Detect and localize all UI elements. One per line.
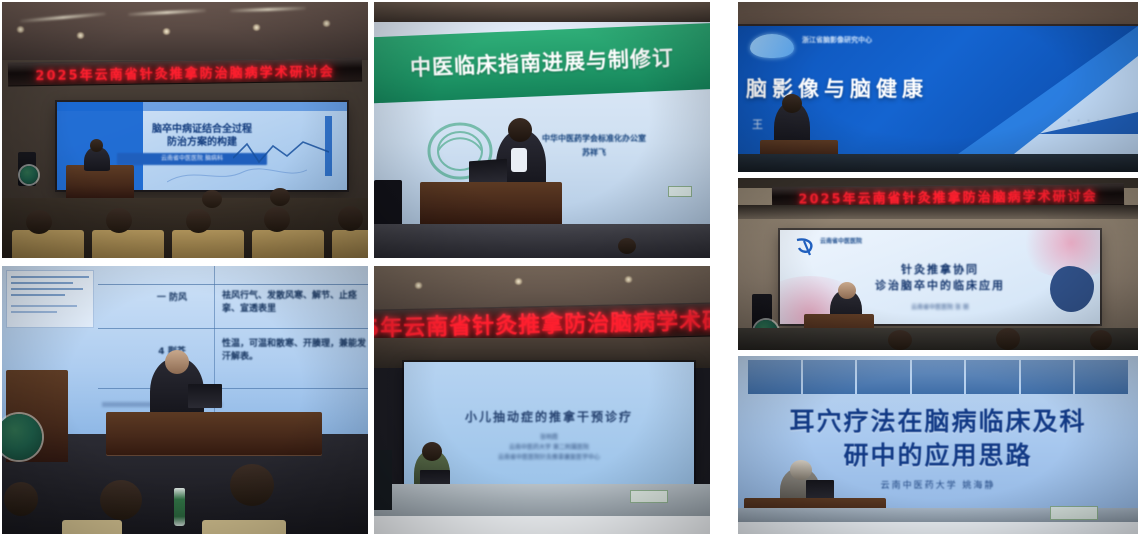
stage-speaker-box	[374, 450, 392, 510]
podium-desk	[420, 182, 562, 226]
audience-head	[996, 328, 1020, 350]
slide-photo-strip	[748, 360, 1128, 394]
brain-icon	[750, 34, 794, 58]
speaker-head	[782, 94, 802, 113]
panel-2-photo: 中医临床指南进展与制修订 中华中医药学会标准化办公室 苏祥飞	[374, 2, 710, 258]
water-bottle	[174, 488, 185, 526]
slide-title-line1: 脑卒中病证结合全过程	[57, 124, 347, 137]
presenter-desk	[106, 412, 322, 456]
audience-head	[888, 330, 912, 350]
audience-head	[26, 210, 52, 234]
ceiling-downlight	[514, 278, 523, 285]
panel-5-photo: 2025年云南省针灸推拿防治脑病学术研讨会 小儿抽动症的推拿干预诊疗 张明霞 云…	[374, 266, 710, 534]
sy-monogram-icon	[794, 236, 816, 258]
slide-title-line2: 诊治脑卒中的临床应用	[780, 279, 1100, 293]
led-banner: 2025年云南省针灸推拿防治脑病学术研讨会	[8, 58, 362, 87]
audience-head	[100, 480, 142, 520]
audience-head	[186, 209, 211, 233]
seat	[92, 230, 164, 258]
seat	[202, 520, 286, 534]
foreground-shadow	[374, 224, 710, 258]
slide-byline-org1: 云南中医药大学 第二附属医院	[404, 444, 694, 452]
slide-title-line1: 耳穴疗法在脑病临床及科	[738, 406, 1138, 437]
collage-panel-right-top[interactable]: 浙江省脑影像研究中心 脑影像与脑健康 王 鹤 · · · ·	[738, 2, 1138, 172]
floor	[738, 522, 1138, 534]
speaker-head	[508, 118, 532, 142]
audience-foreground	[738, 328, 1138, 350]
collage-panel-right-bottom[interactable]: 耳穴疗法在脑病临床及科 研中的应用思路 云南中医药大学 姚海静	[738, 356, 1138, 534]
collage-panel-bottom-middle[interactable]: 2025年云南省针灸推拿防治脑病学术研讨会 小儿抽动症的推拿干预诊疗 张明霞 云…	[374, 266, 710, 534]
seat	[172, 230, 244, 258]
audience-head	[202, 190, 222, 208]
audience-head	[264, 207, 290, 232]
panel-3-photo: 浙江省脑影像研究中心 脑影像与脑健康 王 鹤 · · · ·	[738, 2, 1138, 172]
slide-byline: 云南省中医医院 张 丽	[780, 304, 1100, 312]
audience-head	[270, 188, 290, 206]
slide-byline-name: 张明霞	[404, 434, 694, 442]
slide-org-name: 云南省中医医院	[820, 238, 970, 246]
audience-head	[230, 464, 274, 506]
ceiling-downlight	[76, 32, 85, 39]
ceiling-downlight	[322, 20, 331, 27]
audience-head	[106, 208, 132, 233]
slide-thumbnail	[6, 270, 94, 328]
laptop	[806, 480, 834, 500]
audience-head	[618, 238, 636, 254]
wall-shadow	[738, 205, 1138, 219]
slide-footer-text: · · · ·	[1040, 118, 1130, 126]
ceiling-downlight	[624, 276, 633, 283]
table-row-desc: 性温，可温和散寒、开腠理，兼能发汗解表。	[222, 338, 368, 364]
exit-sign-icon	[630, 490, 668, 503]
speaker-head	[90, 139, 103, 152]
panel-7-photo: 耳穴疗法在脑病临床及科 研中的应用思路 云南中医药大学 姚海静	[738, 356, 1138, 534]
seat	[12, 230, 84, 258]
slide-wave-icon	[167, 164, 307, 186]
speaker-head	[165, 350, 189, 374]
speaker-head	[790, 460, 812, 480]
audience-head	[338, 206, 363, 231]
led-banner-text: 2025年云南省针灸推拿防治脑病学术研讨会	[798, 185, 1097, 207]
collage-panel-top-middle[interactable]: 中医临床指南进展与制修订 中华中医药学会标准化办公室 苏祥飞	[374, 2, 710, 258]
collage-panel-top-left[interactable]: 2025年云南省针灸推拿防治脑病学术研讨会 脑卒中病证结合全过程 防治方案的构建…	[2, 2, 368, 258]
panel-1-photo: 2025年云南省针灸推拿防治脑病学术研讨会 脑卒中病证结合全过程 防治方案的构建…	[2, 2, 368, 258]
led-banner-text: 2025年云南省针灸推拿防治脑病学术研讨会	[35, 60, 334, 83]
slide-title-line1: 针灸推拿协同	[780, 263, 1100, 277]
table-row-term: 一 防风	[126, 290, 218, 303]
exit-sign-icon	[668, 186, 692, 197]
seat	[332, 230, 368, 258]
floor	[374, 516, 710, 534]
photo-collage: 2025年云南省针灸推拿防治脑病学术研讨会 脑卒中病证结合全过程 防治方案的构建…	[0, 0, 1140, 536]
seat	[252, 230, 324, 258]
ceiling-downlight	[16, 26, 25, 33]
seat	[62, 520, 122, 534]
slide-org-name: 浙江省脑影像研究中心	[802, 36, 982, 45]
collage-panel-bottom-left[interactable]: 一 防风 祛风行气、发散风寒、解节、止痉挛、宣透表里 4 荆芥 性温，可温和散寒…	[2, 266, 368, 534]
collage-panel-right-middle[interactable]: 2025年云南省针灸推拿防治脑病学术研讨会 云南省中医医院 针灸推拿协同 诊治脑…	[738, 178, 1138, 350]
ceiling-downlight	[414, 282, 423, 289]
speaker-shirt	[511, 148, 527, 172]
panel-6-photo: 2025年云南省针灸推拿防治脑病学术研讨会 云南省中医医院 针灸推拿协同 诊治脑…	[738, 178, 1138, 350]
audience-head	[1090, 330, 1112, 350]
slide-table: 一 防风 祛风行气、发散风寒、解节、止痉挛、宣透表里 4 荆芥 性温，可温和散寒…	[98, 266, 368, 434]
foreground-band	[738, 154, 1138, 172]
speaker-head	[838, 282, 856, 299]
projection-screen: 云南省中医医院 针灸推拿协同 诊治脑卒中的临床应用 云南省中医医院 张 丽	[780, 230, 1100, 324]
upper-wall	[374, 2, 710, 22]
speaker-head	[422, 442, 442, 461]
podium-emblem-icon	[20, 166, 38, 184]
panel-4-photo: 一 防风 祛风行气、发散风寒、解节、止痉挛、宣透表里 4 荆芥 性温，可温和散寒…	[2, 266, 368, 534]
ceiling-downlight	[162, 28, 171, 35]
slide-presenter: 王 鹤	[752, 118, 882, 133]
ceiling-downlight	[252, 24, 261, 31]
slide-top-bar	[57, 102, 347, 111]
laptop	[188, 384, 222, 408]
table-row-desc: 祛风行气、发散风寒、解节、止痉挛、宣透表里	[222, 290, 368, 316]
exit-sign-icon	[1050, 506, 1098, 520]
slide-title: 小儿抽动症的推拿干预诊疗	[404, 410, 694, 425]
audience-head	[4, 482, 38, 516]
